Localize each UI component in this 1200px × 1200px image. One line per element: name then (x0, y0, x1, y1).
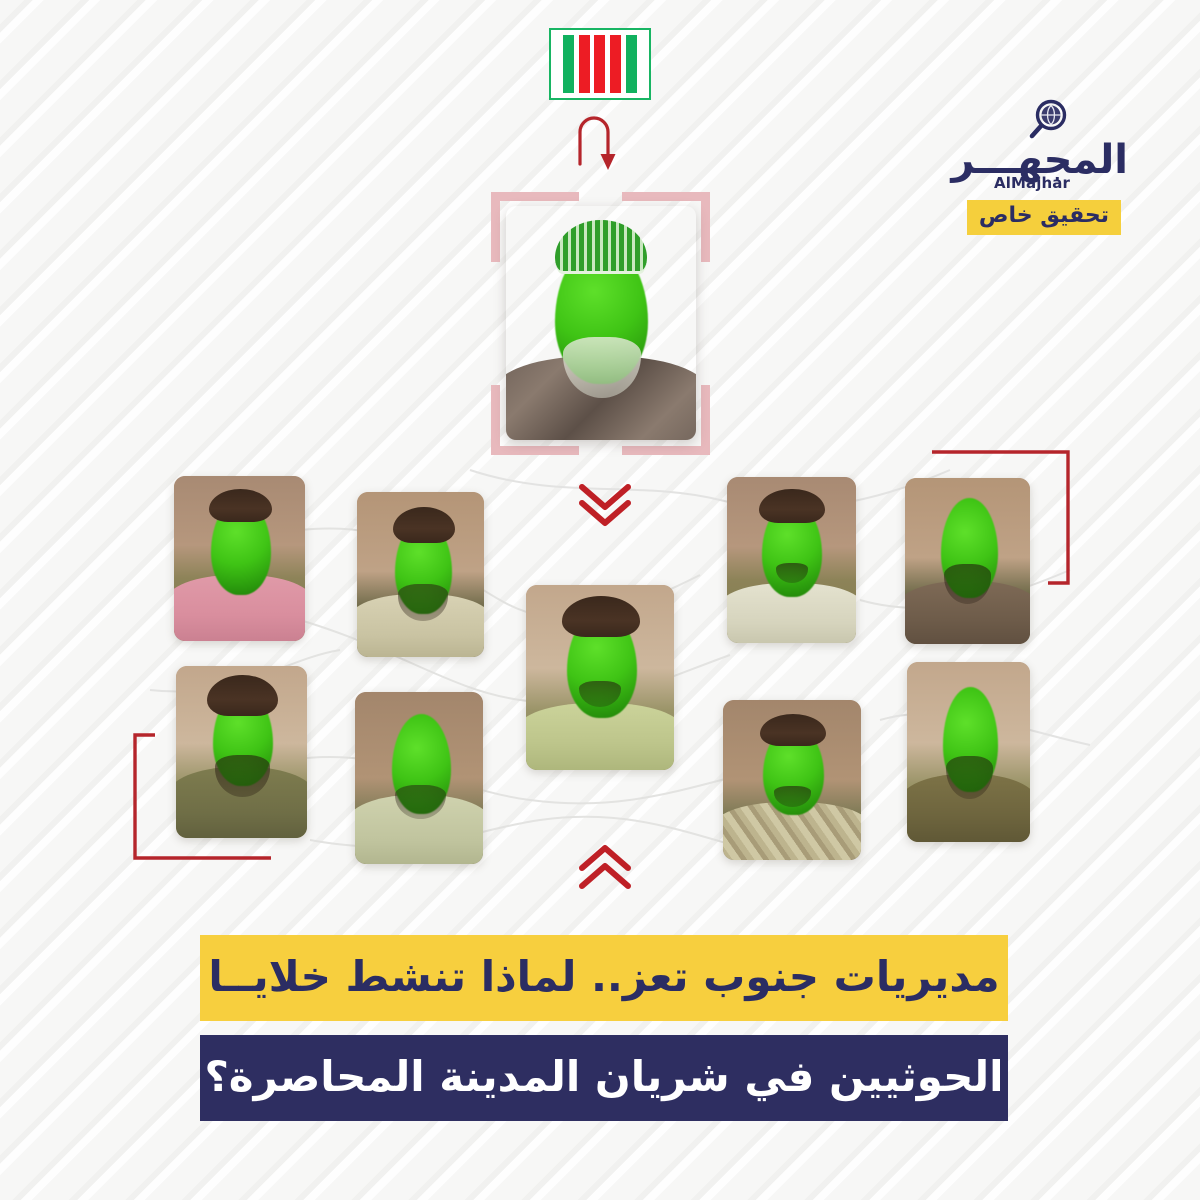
portrait-p6[interactable] (727, 477, 856, 643)
portrait-image (905, 478, 1030, 644)
portrait-p4[interactable] (355, 692, 483, 864)
portrait-image (174, 476, 305, 641)
headline-banner-primary: مديريات جنوب تعز.. لماذا تنشط خلايــا (200, 935, 1008, 1021)
portrait-image (176, 666, 307, 838)
portrait-image (723, 700, 861, 860)
portrait-image (526, 585, 674, 770)
portrait-p2[interactable] (357, 492, 484, 657)
portrait-image (355, 692, 483, 864)
brand-wordmark: المجهـــر AlMajhar (960, 138, 1128, 186)
barcode-flag-icon (549, 28, 651, 100)
portrait-p7[interactable] (905, 478, 1030, 644)
double-chevron-down-icon (570, 475, 640, 535)
portrait-p5[interactable] (526, 585, 674, 770)
portrait-image (357, 492, 484, 657)
headline-line-1: مديريات جنوب تعز.. لماذا تنشط خلايــا (208, 952, 999, 1001)
brand-name-latin: AlMajhar (994, 174, 1070, 192)
headline-banner-secondary: الحوثيين في شريان المدينة المحاصرة؟ (200, 1035, 1008, 1121)
barcode-bar-5 (626, 35, 637, 93)
portrait-p3[interactable] (176, 666, 307, 838)
portrait-p9[interactable] (907, 662, 1030, 842)
portrait-p1[interactable] (174, 476, 305, 641)
barcode-bar-4 (610, 35, 621, 93)
brand-logo-block[interactable]: المجهـــر AlMajhar تحقيق خاص (960, 98, 1128, 235)
magnifier-globe-icon (960, 98, 1128, 142)
barcode-bar-1 (563, 35, 574, 93)
hero-portrait-group[interactable] (491, 192, 710, 455)
portrait-hero[interactable] (506, 206, 696, 440)
portrait-image (907, 662, 1030, 842)
double-chevron-up-icon (570, 838, 640, 898)
headline-line-2: الحوثيين في شريان المدينة المحاصرة؟ (204, 1052, 1003, 1101)
barcode-bar-2 (579, 35, 590, 93)
curved-down-arrow-icon (572, 112, 632, 174)
portrait-p8[interactable] (723, 700, 861, 860)
status-badge: تحقيق خاص (967, 200, 1121, 235)
barcode-bar-3 (594, 35, 605, 93)
portrait-image (727, 477, 856, 643)
poster-canvas: المجهـــر AlMajhar تحقيق خاص (0, 0, 1200, 1200)
